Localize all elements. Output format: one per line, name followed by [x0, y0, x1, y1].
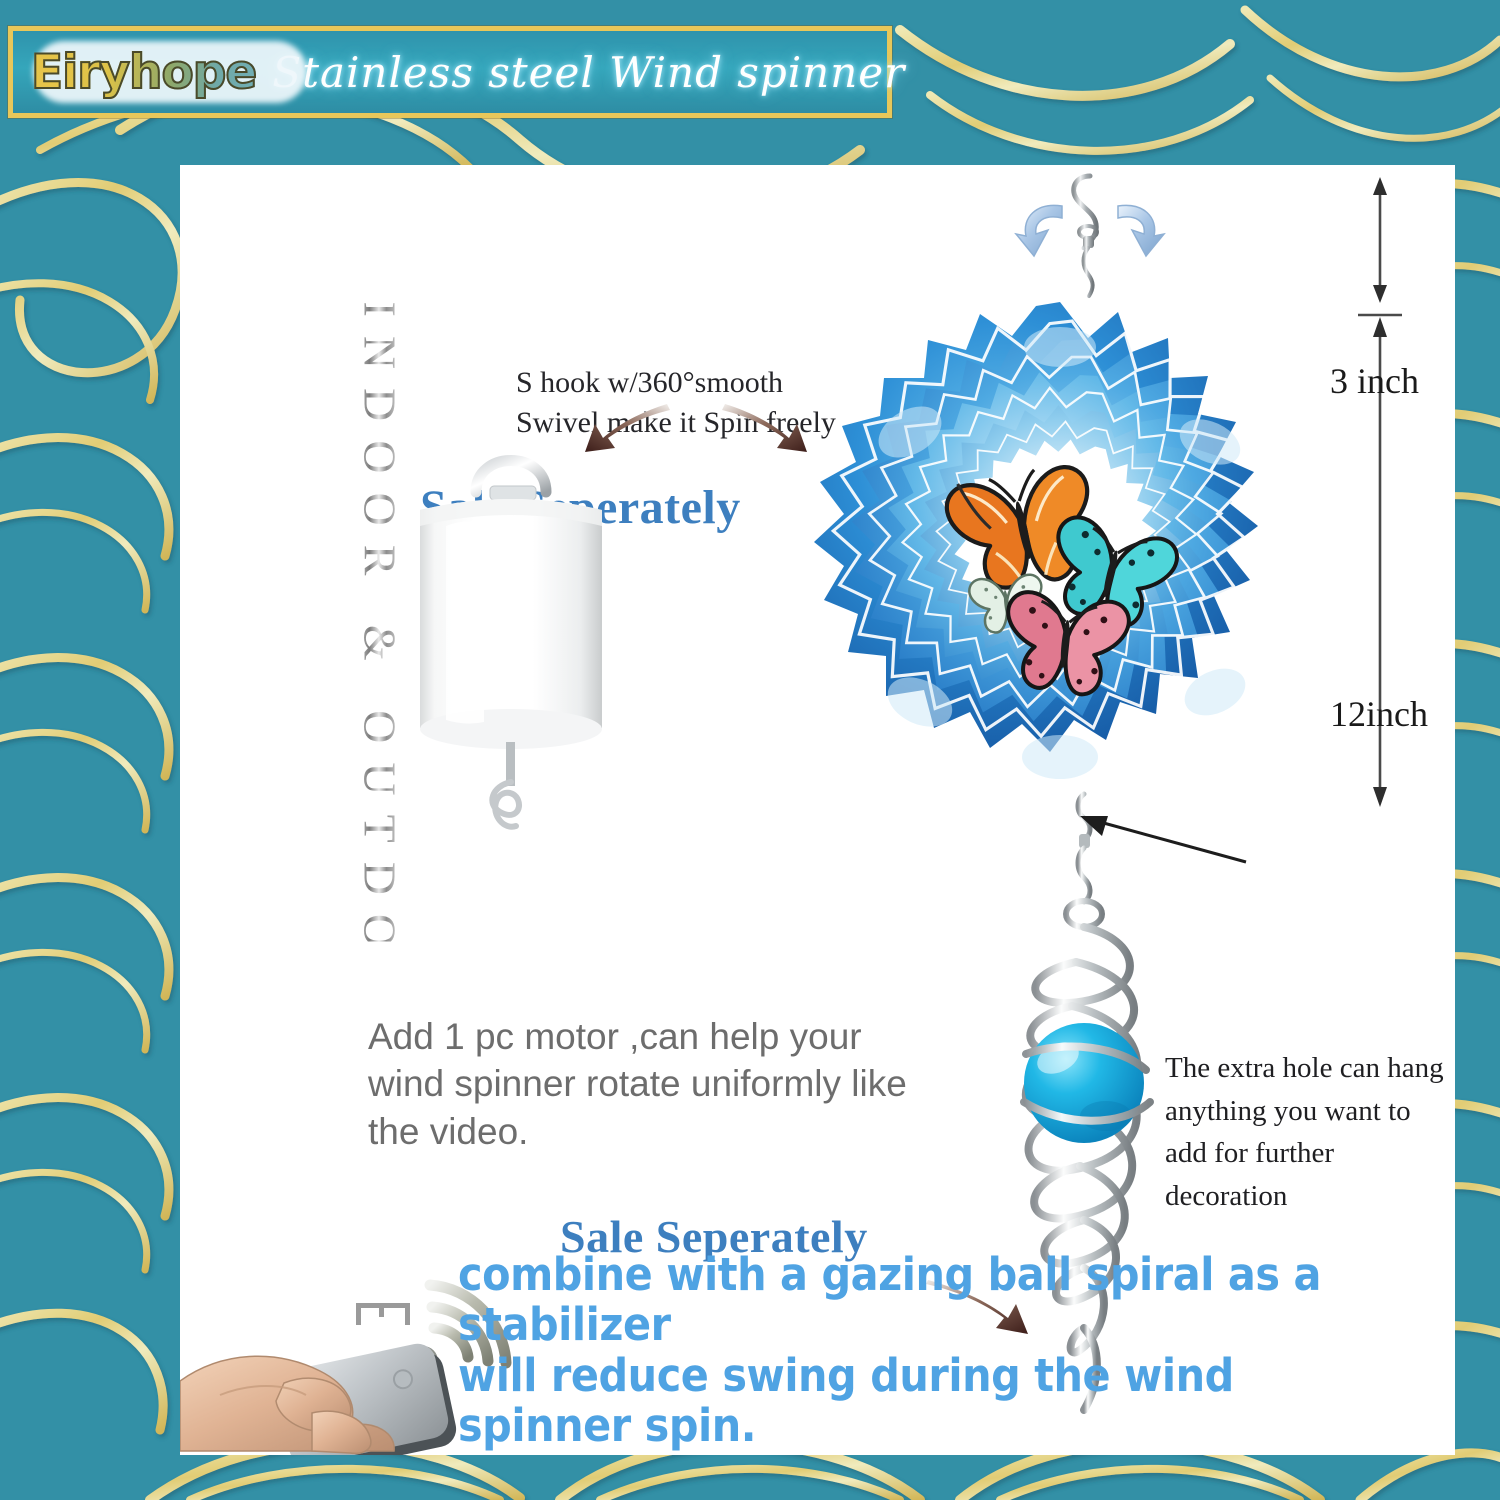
- bottom-headline-line-1: combine with a gazing ball spiral as a s…: [458, 1250, 1378, 1351]
- bracket-glyph-icon: [356, 1303, 410, 1325]
- dimension-top-label: 3 inch: [1330, 360, 1419, 402]
- extra-hole-note-text: The extra hole can hang anything you wan…: [1165, 1047, 1455, 1218]
- product-infographic: Eiryhope Stainless steel Wind spinner IN…: [0, 0, 1500, 1500]
- rotate-ccw-icon: [1016, 205, 1062, 256]
- extra-hole-pointer-arrow-icon: [1072, 810, 1252, 870]
- motor-product-image: [380, 430, 660, 850]
- brand-logo: Eiryhope: [31, 37, 256, 107]
- brand-logo-text: Eiryhope: [31, 45, 256, 100]
- wind-spinner-product-image: [780, 270, 1340, 830]
- bottom-headline: combine with a gazing ball spiral as a s…: [458, 1250, 1378, 1452]
- dimension-body-label: 12inch: [1330, 693, 1428, 735]
- rotate-cw-icon: [1118, 205, 1164, 256]
- bottom-headline-line-2: will reduce swing during the wind spinne…: [458, 1351, 1378, 1452]
- content-panel: INDOOR & OUTDOOR USE S hook w/360°smooth…: [180, 165, 1455, 1455]
- banner-title: Stainless steel Wind spinner: [272, 48, 905, 97]
- header-banner: Eiryhope Stainless steel Wind spinner: [8, 26, 892, 118]
